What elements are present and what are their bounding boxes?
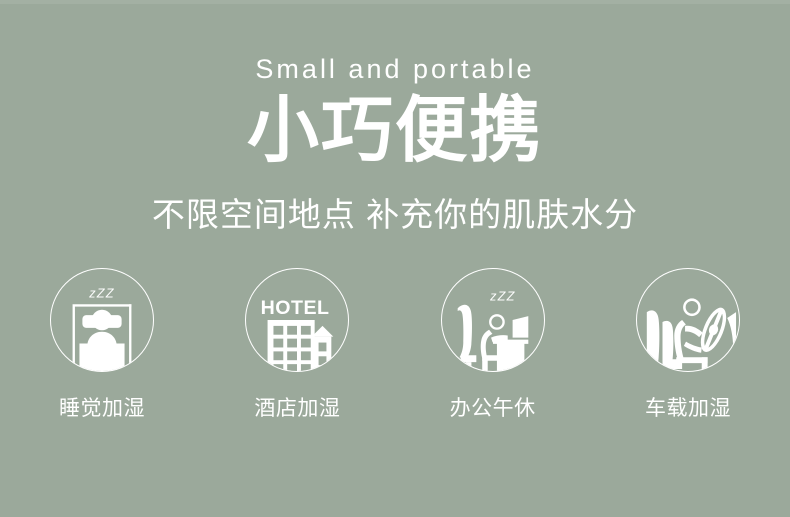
feature-item-hotel[interactable]: HOTEL (237, 268, 357, 422)
eyebrow-text: Small and portable (0, 52, 790, 86)
feature-label-car: 车载加湿 (645, 396, 731, 422)
feature-list: zZZ 睡觉加湿 HOTEL (0, 268, 790, 422)
sleep-mark-text: zZZ (88, 285, 115, 300)
car-humidify-icon (636, 268, 740, 372)
feature-label-sleep: 睡觉加湿 (59, 396, 145, 422)
feature-item-car[interactable]: 车载加湿 (628, 268, 748, 422)
feature-item-office-nap[interactable]: zZZ 办公午休 (433, 268, 553, 422)
hotel-humidify-icon: HOTEL (245, 268, 349, 372)
top-edge-sheen (0, 0, 790, 4)
hotel-sign-text: HOTEL (261, 297, 330, 319)
promo-poster: Small and portable 小巧便携 不限空间地点 补充你的肌肤水分 (0, 0, 790, 517)
office-nap-icon: zZZ (441, 268, 545, 372)
feature-label-office-nap: 办公午休 (450, 396, 536, 422)
feature-item-sleep[interactable]: zZZ 睡觉加湿 (42, 268, 162, 422)
sleep-mark-text: zZZ (489, 288, 516, 303)
sleep-humidify-icon: zZZ (50, 268, 154, 372)
feature-label-hotel: 酒店加湿 (254, 396, 340, 422)
page-title: 小巧便携 (0, 88, 790, 174)
subheadline-text: 不限空间地点 补充你的肌肤水分 (0, 193, 790, 237)
